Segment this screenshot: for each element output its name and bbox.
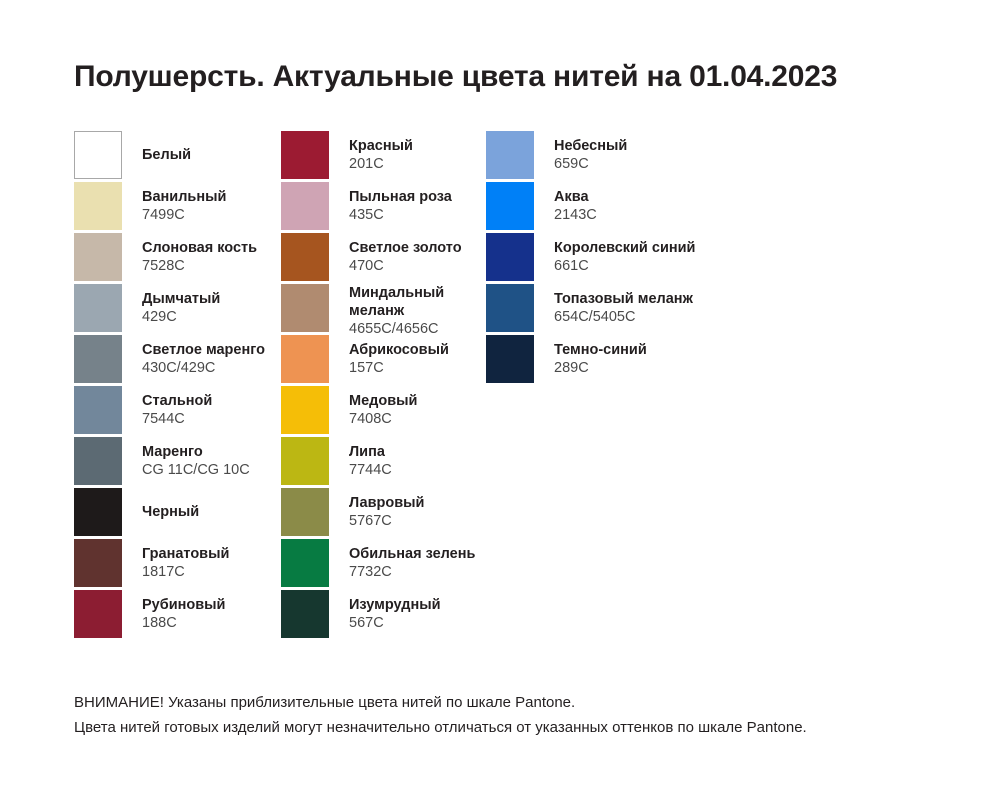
swatch-name: Изумрудный — [349, 596, 441, 614]
swatch-pantone-code: 7499C — [142, 206, 226, 225]
swatch-name: Миндальный меланж — [349, 284, 469, 320]
swatch-row: Темно-синий289C — [486, 335, 726, 386]
swatch-pantone-code: 289C — [554, 359, 647, 378]
swatch-pantone-code: 430C/429C — [142, 359, 265, 378]
swatch-name: Пыльная роза — [349, 188, 452, 206]
color-swatch — [74, 539, 122, 587]
color-swatch — [486, 233, 534, 281]
swatch-row: Королевский синий661C — [486, 233, 726, 284]
swatch-pantone-code: 5767C — [349, 512, 424, 531]
swatch-name: Небесный — [554, 137, 627, 155]
swatch-row: Рубиновый188C — [74, 590, 281, 641]
swatch-pantone-code: 7732C — [349, 563, 475, 582]
swatch-labels: Стальной7544C — [122, 386, 212, 434]
color-swatch — [281, 131, 329, 179]
page-title: Полушерсть. Актуальные цвета нитей на 01… — [74, 60, 954, 94]
swatch-pantone-code: 429C — [142, 308, 220, 327]
color-swatch — [281, 539, 329, 587]
swatch-name: Абрикосовый — [349, 341, 449, 359]
swatch-row: Миндальный меланж4655C/4656C — [281, 284, 486, 335]
swatch-labels: Белый — [122, 131, 191, 179]
color-swatch — [281, 182, 329, 230]
color-swatch — [74, 488, 122, 536]
swatch-name: Слоновая кость — [142, 239, 257, 257]
swatch-pantone-code: 470C — [349, 257, 462, 276]
color-swatch — [486, 182, 534, 230]
palette-column-1: БелыйВанильный7499CСлоновая кость7528CДы… — [74, 131, 281, 641]
swatch-name: Черный — [142, 503, 199, 521]
swatch-labels: Светлое маренго430C/429C — [122, 335, 265, 383]
palette-columns: БелыйВанильный7499CСлоновая кость7528CДы… — [74, 131, 954, 641]
color-swatch — [281, 437, 329, 485]
swatch-pantone-code: 7528C — [142, 257, 257, 276]
swatch-name: Обильная зелень — [349, 545, 475, 563]
swatch-pantone-code: 7744C — [349, 461, 392, 480]
palette-column-3: Небесный659CАква2143CКоролевский синий66… — [486, 131, 726, 641]
swatch-labels: Небесный659C — [534, 131, 627, 179]
swatch-labels: Лавровый5767C — [329, 488, 424, 536]
swatch-row: Черный — [74, 488, 281, 539]
footer-line: Цвета нитей готовых изделий могут незнач… — [74, 715, 954, 740]
color-swatch — [486, 335, 534, 383]
color-swatch — [281, 488, 329, 536]
swatch-labels: Топазовый меланж654C/5405C — [534, 284, 693, 332]
color-swatch — [281, 284, 329, 332]
swatch-labels: Гранатовый1817C — [122, 539, 229, 587]
swatch-name: Светлое золото — [349, 239, 462, 257]
swatch-row: Дымчатый429C — [74, 284, 281, 335]
swatch-pantone-code: 7408C — [349, 410, 417, 429]
color-chart-page: Полушерсть. Актуальные цвета нитей на 01… — [0, 0, 1000, 801]
swatch-name: Белый — [142, 146, 191, 164]
swatch-labels: Слоновая кость7528C — [122, 233, 257, 281]
swatch-row: Красный201C — [281, 131, 486, 182]
swatch-pantone-code: 7544C — [142, 410, 212, 429]
footer-note: ВНИМАНИЕ! Указаны приблизительные цвета … — [74, 690, 954, 740]
color-swatch — [74, 284, 122, 332]
swatch-pantone-code: 659C — [554, 155, 627, 174]
swatch-labels: Королевский синий661C — [534, 233, 695, 281]
swatch-row: Белый — [74, 131, 281, 182]
swatch-row: МаренгоCG 11C/CG 10C — [74, 437, 281, 488]
swatch-name: Топазовый меланж — [554, 290, 693, 308]
color-swatch — [486, 131, 534, 179]
color-swatch — [281, 386, 329, 434]
swatch-labels: Ванильный7499C — [122, 182, 226, 230]
swatch-labels: Пыльная роза435C — [329, 182, 452, 230]
swatch-labels: Рубиновый188C — [122, 590, 225, 638]
swatch-labels: Аква2143C — [534, 182, 597, 230]
palette-column-2: Красный201CПыльная роза435CСветлое золот… — [281, 131, 486, 641]
swatch-row: Стальной7544C — [74, 386, 281, 437]
swatch-labels: Красный201C — [329, 131, 413, 179]
swatch-name: Лавровый — [349, 494, 424, 512]
footer-line: ВНИМАНИЕ! Указаны приблизительные цвета … — [74, 690, 954, 715]
color-swatch — [74, 386, 122, 434]
swatch-labels: Медовый7408C — [329, 386, 417, 434]
swatch-labels: Черный — [122, 488, 199, 536]
swatch-row: Абрикосовый157C — [281, 335, 486, 386]
swatch-name: Стальной — [142, 392, 212, 410]
swatch-labels: Светлое золото470C — [329, 233, 462, 281]
swatch-pantone-code: 188C — [142, 614, 225, 633]
swatch-name: Медовый — [349, 392, 417, 410]
color-swatch — [74, 590, 122, 638]
swatch-labels: Обильная зелень7732C — [329, 539, 475, 587]
swatch-pantone-code: 435C — [349, 206, 452, 225]
swatch-name: Гранатовый — [142, 545, 229, 563]
color-swatch — [281, 590, 329, 638]
color-swatch — [74, 131, 122, 179]
swatch-row: Обильная зелень7732C — [281, 539, 486, 590]
swatch-name: Липа — [349, 443, 392, 461]
swatch-row: Небесный659C — [486, 131, 726, 182]
swatch-row: Гранатовый1817C — [74, 539, 281, 590]
swatch-pantone-code: 567C — [349, 614, 441, 633]
swatch-row: Слоновая кость7528C — [74, 233, 281, 284]
swatch-row: Ванильный7499C — [74, 182, 281, 233]
swatch-row: Липа7744C — [281, 437, 486, 488]
swatch-labels: Абрикосовый157C — [329, 335, 449, 383]
swatch-name: Рубиновый — [142, 596, 225, 614]
swatch-name: Маренго — [142, 443, 250, 461]
swatch-labels: Миндальный меланж4655C/4656C — [329, 284, 469, 339]
swatch-labels: Липа7744C — [329, 437, 392, 485]
swatch-pantone-code: CG 11C/CG 10C — [142, 461, 250, 480]
color-swatch — [486, 284, 534, 332]
swatch-name: Темно-синий — [554, 341, 647, 359]
swatch-name: Королевский синий — [554, 239, 695, 257]
color-swatch — [281, 335, 329, 383]
swatch-row: Пыльная роза435C — [281, 182, 486, 233]
swatch-row: Топазовый меланж654C/5405C — [486, 284, 726, 335]
swatch-name: Дымчатый — [142, 290, 220, 308]
swatch-row: Медовый7408C — [281, 386, 486, 437]
swatch-pantone-code: 157C — [349, 359, 449, 378]
swatch-row: Лавровый5767C — [281, 488, 486, 539]
swatch-row: Светлое маренго430C/429C — [74, 335, 281, 386]
color-swatch — [74, 233, 122, 281]
swatch-pantone-code: 661C — [554, 257, 695, 276]
color-swatch — [74, 182, 122, 230]
swatch-labels: Темно-синий289C — [534, 335, 647, 383]
color-swatch — [74, 437, 122, 485]
swatch-row: Светлое золото470C — [281, 233, 486, 284]
swatch-row: Аква2143C — [486, 182, 726, 233]
color-swatch — [281, 233, 329, 281]
swatch-labels: Дымчатый429C — [122, 284, 220, 332]
swatch-labels: Изумрудный567C — [329, 590, 441, 638]
swatch-labels: МаренгоCG 11C/CG 10C — [122, 437, 250, 485]
swatch-name: Ванильный — [142, 188, 226, 206]
swatch-pantone-code: 1817C — [142, 563, 229, 582]
swatch-name: Красный — [349, 137, 413, 155]
swatch-row: Изумрудный567C — [281, 590, 486, 641]
swatch-name: Аква — [554, 188, 597, 206]
swatch-pantone-code: 201C — [349, 155, 413, 174]
swatch-name: Светлое маренго — [142, 341, 265, 359]
swatch-pantone-code: 654C/5405C — [554, 308, 693, 327]
color-swatch — [74, 335, 122, 383]
swatch-pantone-code: 2143C — [554, 206, 597, 225]
